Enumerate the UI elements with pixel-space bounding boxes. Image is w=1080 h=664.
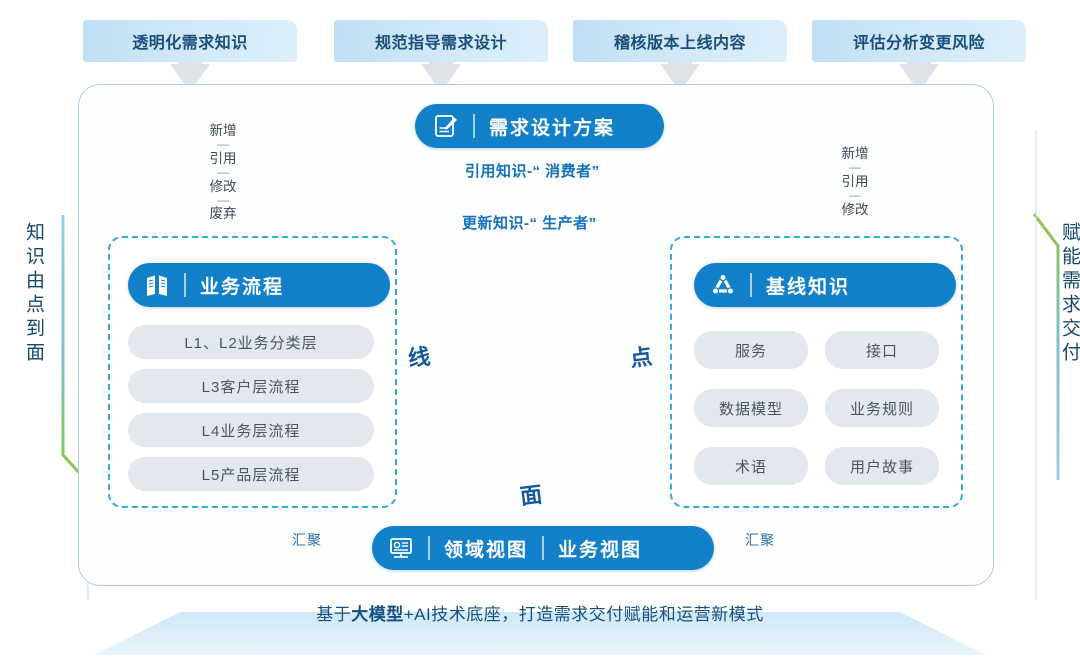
knowledge-item[interactable]: 数据模型	[694, 389, 808, 427]
knowledge-item[interactable]: 业务规则	[825, 389, 939, 427]
node-network-icon	[710, 272, 736, 298]
forward-arrow-label: 引用知识-“ 消费者”	[465, 160, 600, 181]
branch-divider: —	[832, 163, 878, 173]
caption-part2: +AI技术底座，打造需求交付赋能和运营新模式	[404, 605, 764, 624]
document-pen-icon	[433, 113, 459, 139]
pill-separator	[542, 536, 544, 560]
converge-label-left: 汇聚	[292, 530, 322, 550]
map-book-icon	[144, 272, 170, 298]
pill-title: 需求设计方案	[489, 113, 615, 140]
knowledge-item[interactable]: 用户故事	[825, 447, 939, 485]
outcome-chip-4[interactable]: 评估分析变更风险	[812, 20, 1026, 62]
process-item-label: L1、L2业务分类层	[184, 332, 317, 353]
outcome-chip-label: 透明化需求知识	[132, 29, 248, 53]
pill-separator	[428, 536, 430, 560]
pill-separator	[750, 273, 752, 297]
pill-title: 基线知识	[766, 272, 850, 299]
knowledge-item-label: 接口	[866, 340, 898, 361]
outcome-chip-3[interactable]: 稽核版本上线内容	[573, 20, 787, 62]
knowledge-item-label: 术语	[735, 456, 767, 477]
outcome-chip-1[interactable]: 透明化需求知识	[83, 20, 297, 62]
knowledge-item[interactable]: 服务	[694, 331, 808, 369]
backward-arrow-label: 更新知识-“ 生产者”	[462, 212, 597, 233]
process-item[interactable]: L4业务层流程	[128, 413, 374, 447]
bottom-caption: 基于大模型+AI技术底座，打造需求交付赋能和运营新模式	[0, 600, 1080, 625]
left-side-text: 知识由点到面	[20, 222, 47, 366]
process-item-label: L4业务层流程	[202, 420, 301, 441]
view-bar-title-business: 业务视图	[558, 535, 642, 562]
left-branch-labels: 新增 — 引用 — 修改 — 废弃	[200, 122, 246, 223]
outcome-chip-label: 规范指导需求设计	[375, 29, 507, 53]
right-bracket	[1034, 214, 1058, 480]
diagram-canvas: 透明化需求知识 规范指导需求设计 稽核版本上线内容 评估分析变更风险 需求设计方…	[0, 0, 1080, 664]
right-side-text: 赋能需求交付	[1056, 222, 1080, 366]
knowledge-item[interactable]: 接口	[825, 331, 939, 369]
knowledge-item-label: 数据模型	[719, 398, 783, 419]
process-item-label: L3客户层流程	[202, 376, 301, 397]
knowledge-item-label: 服务	[735, 340, 767, 361]
caption-part1: 基于	[316, 605, 351, 624]
knowledge-item[interactable]: 术语	[694, 447, 808, 485]
knowledge-item-label: 用户故事	[850, 456, 914, 477]
branch-divider: —	[832, 191, 878, 201]
cycle-label-line: 线	[406, 339, 432, 373]
outcome-chip-label: 稽核版本上线内容	[614, 29, 746, 53]
process-item-label: L5产品层流程	[202, 464, 301, 485]
pill-title: 业务流程	[200, 272, 284, 299]
knowledge-item-label: 业务规则	[850, 398, 914, 419]
requirement-design-pill[interactable]: 需求设计方案	[415, 104, 664, 148]
pill-separator	[184, 273, 186, 297]
business-process-pill[interactable]: 业务流程	[128, 263, 390, 307]
process-item[interactable]: L5产品层流程	[128, 457, 374, 491]
cycle-label-point: 点	[628, 339, 654, 373]
outcome-chip-label: 评估分析变更风险	[853, 29, 985, 53]
caption-strong: 大模型	[351, 605, 404, 624]
view-bar[interactable]: 领域视图 业务视图	[372, 526, 714, 570]
branch-divider: —	[200, 140, 246, 150]
process-item[interactable]: L3客户层流程	[128, 369, 374, 403]
right-branch-labels: 新增 — 引用 — 修改	[832, 145, 878, 219]
view-bar-title-domain: 领域视图	[444, 535, 528, 562]
outcome-chip-2[interactable]: 规范指导需求设计	[334, 20, 548, 62]
branch-label: 废弃	[200, 205, 246, 223]
pill-separator	[473, 114, 475, 138]
branch-divider: —	[200, 168, 246, 178]
process-item[interactable]: L1、L2业务分类层	[128, 325, 374, 359]
branch-divider: —	[200, 196, 246, 206]
cycle-label-plane: 面	[518, 477, 544, 511]
converge-label-right: 汇聚	[745, 530, 775, 550]
baseline-knowledge-pill[interactable]: 基线知识	[694, 263, 956, 307]
board-icon	[388, 535, 414, 561]
branch-label: 修改	[832, 201, 878, 219]
